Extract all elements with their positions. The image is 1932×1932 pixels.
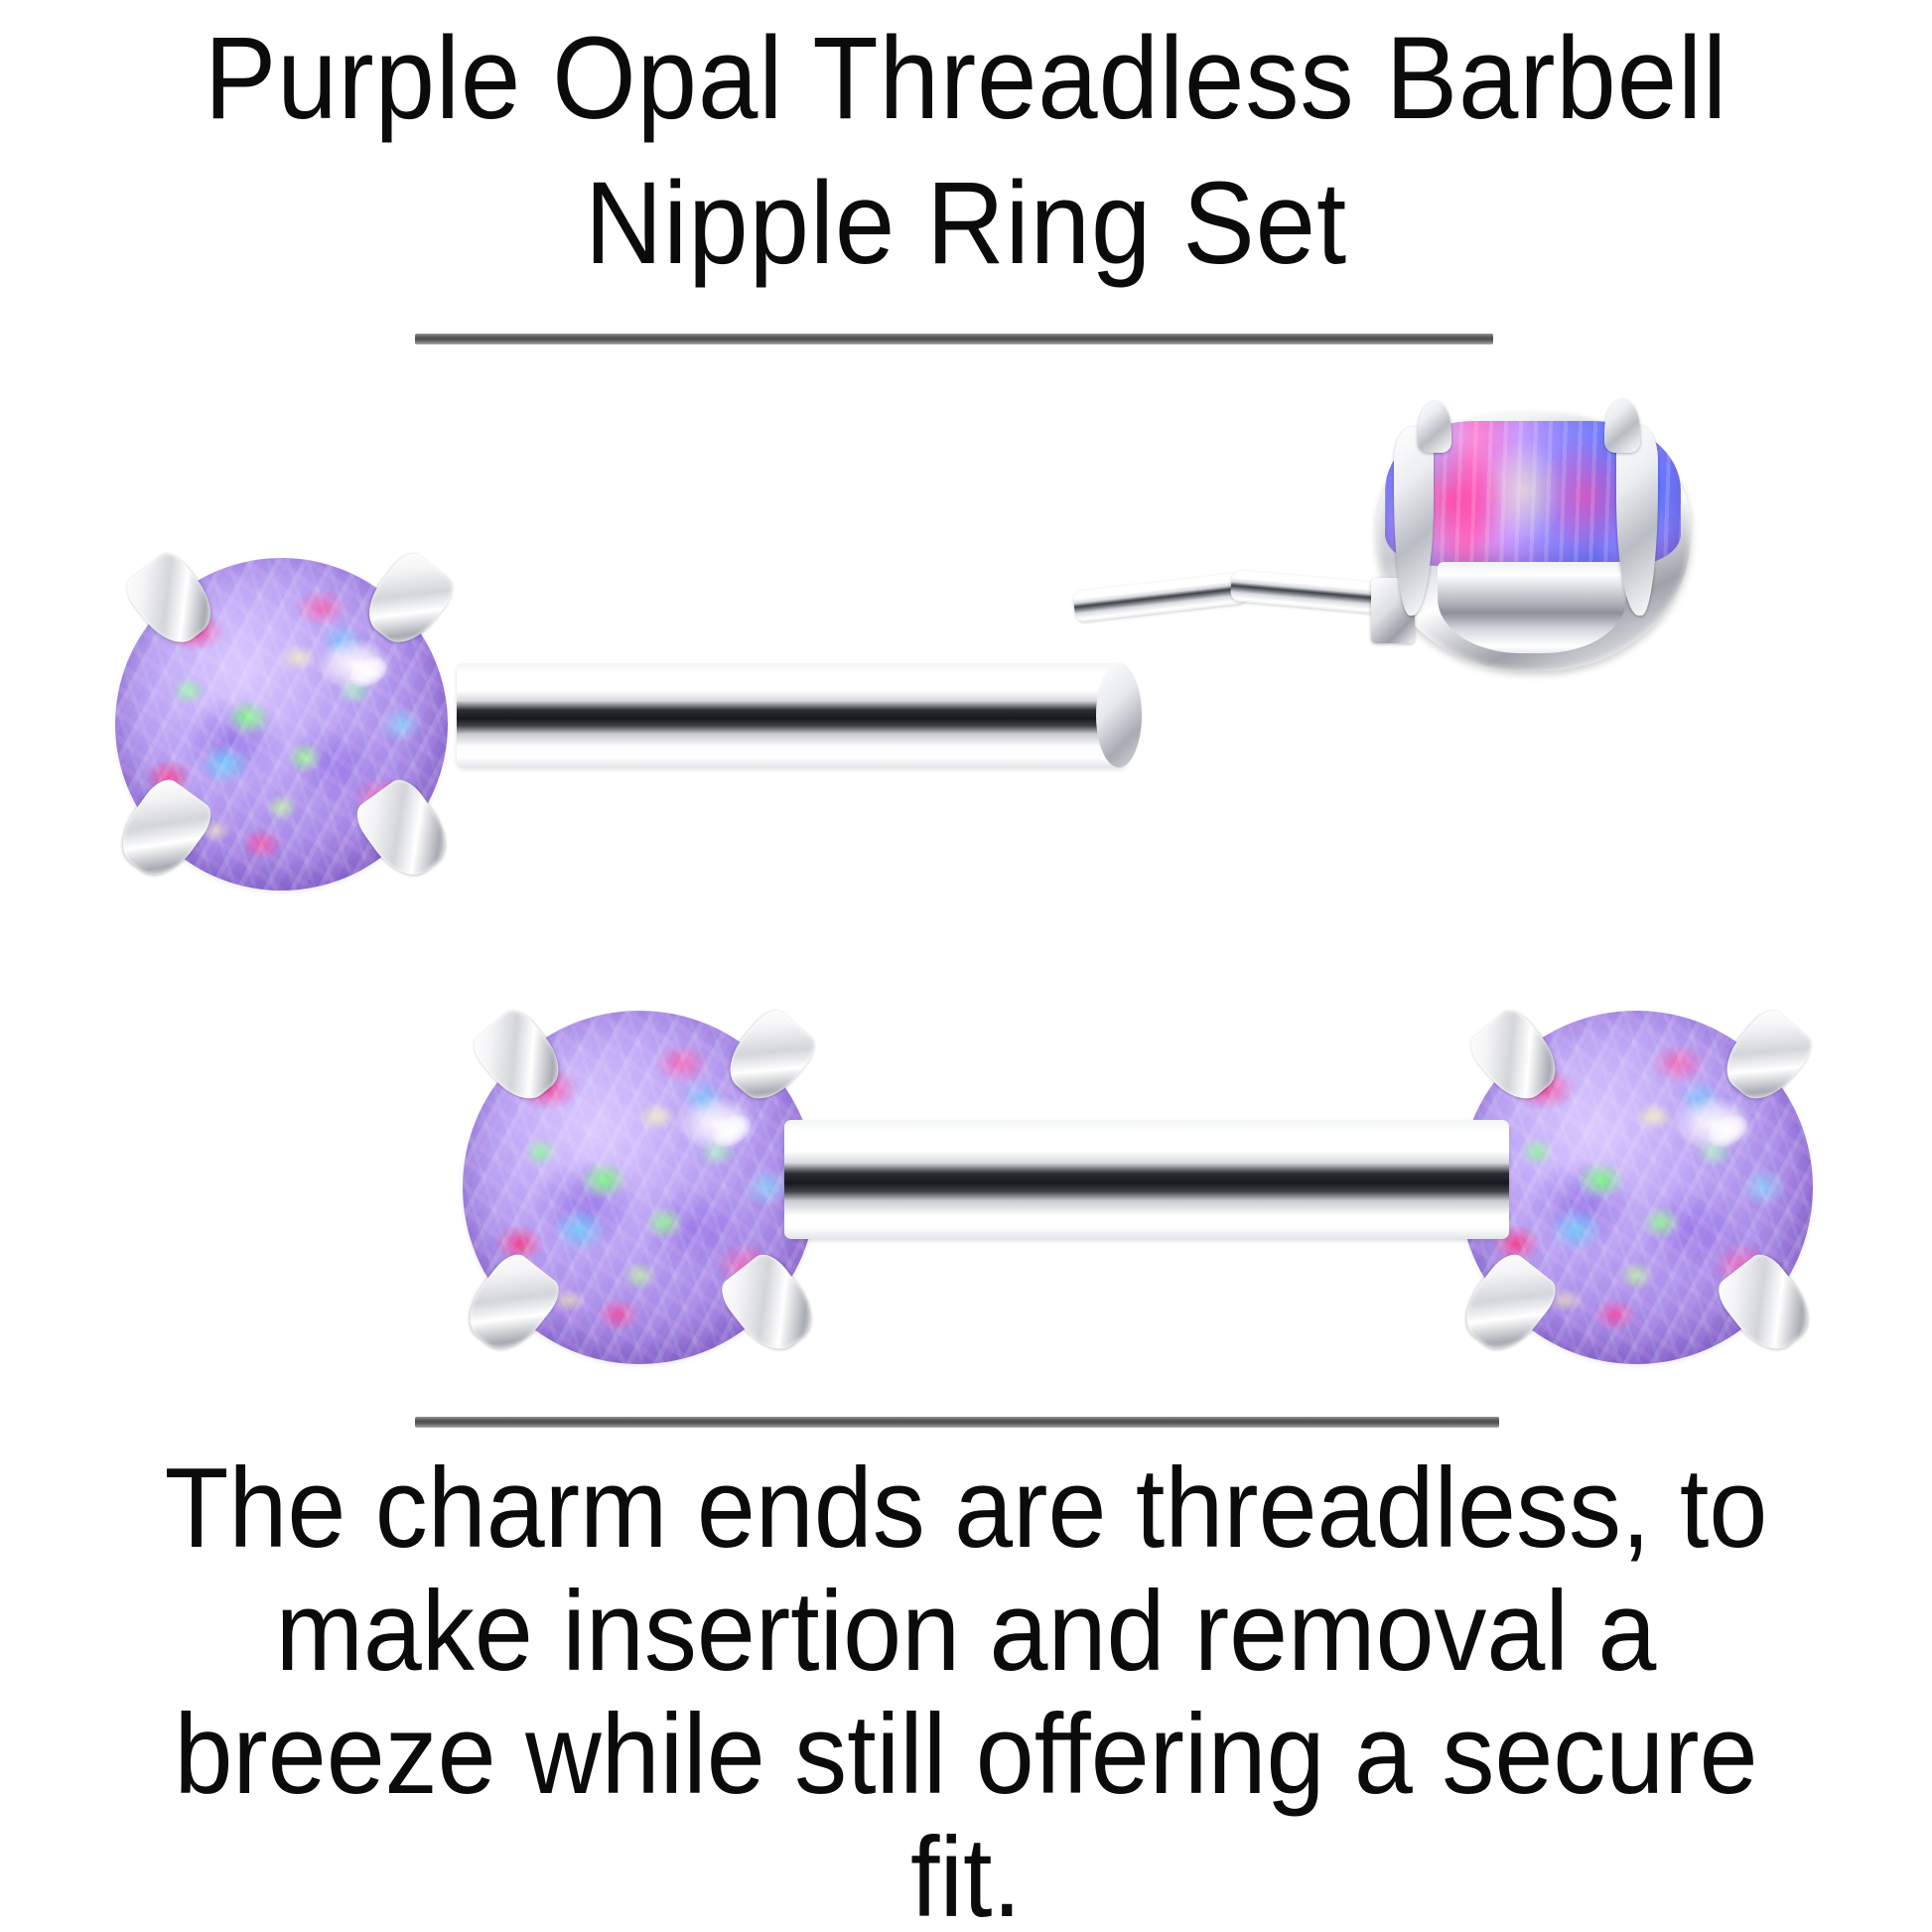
pin-segment-outer [1072, 572, 1248, 622]
description-line-1: The charm ends are threadless, to [68, 1448, 1864, 1571]
description-line-4: fit. [68, 1817, 1864, 1932]
top-barbell-shaft [457, 663, 1127, 767]
product-image-canvas: Purple Opal Threadless Barbell Nipple Ri… [0, 0, 1932, 1932]
description-line-2: make insertion and removal a [68, 1571, 1864, 1694]
threadless-end-claw-back-right [1604, 399, 1640, 453]
product-description: The charm ends are threadless, to make i… [0, 1448, 1932, 1932]
divider-bottom [415, 1417, 1499, 1428]
description-line-3: breeze while still offering a secure [68, 1694, 1864, 1817]
top-barbell-shaft-cap [1096, 663, 1142, 767]
threadless-end-claw-back-left [1418, 401, 1451, 453]
threadless-end-base-band [1438, 562, 1626, 653]
bottom-right-gem-highlight [1703, 1108, 1753, 1153]
bottom-left-gem-highlight [706, 1108, 757, 1153]
top-gem-highlight [345, 650, 392, 693]
bottom-barbell-shaft [784, 1120, 1509, 1239]
